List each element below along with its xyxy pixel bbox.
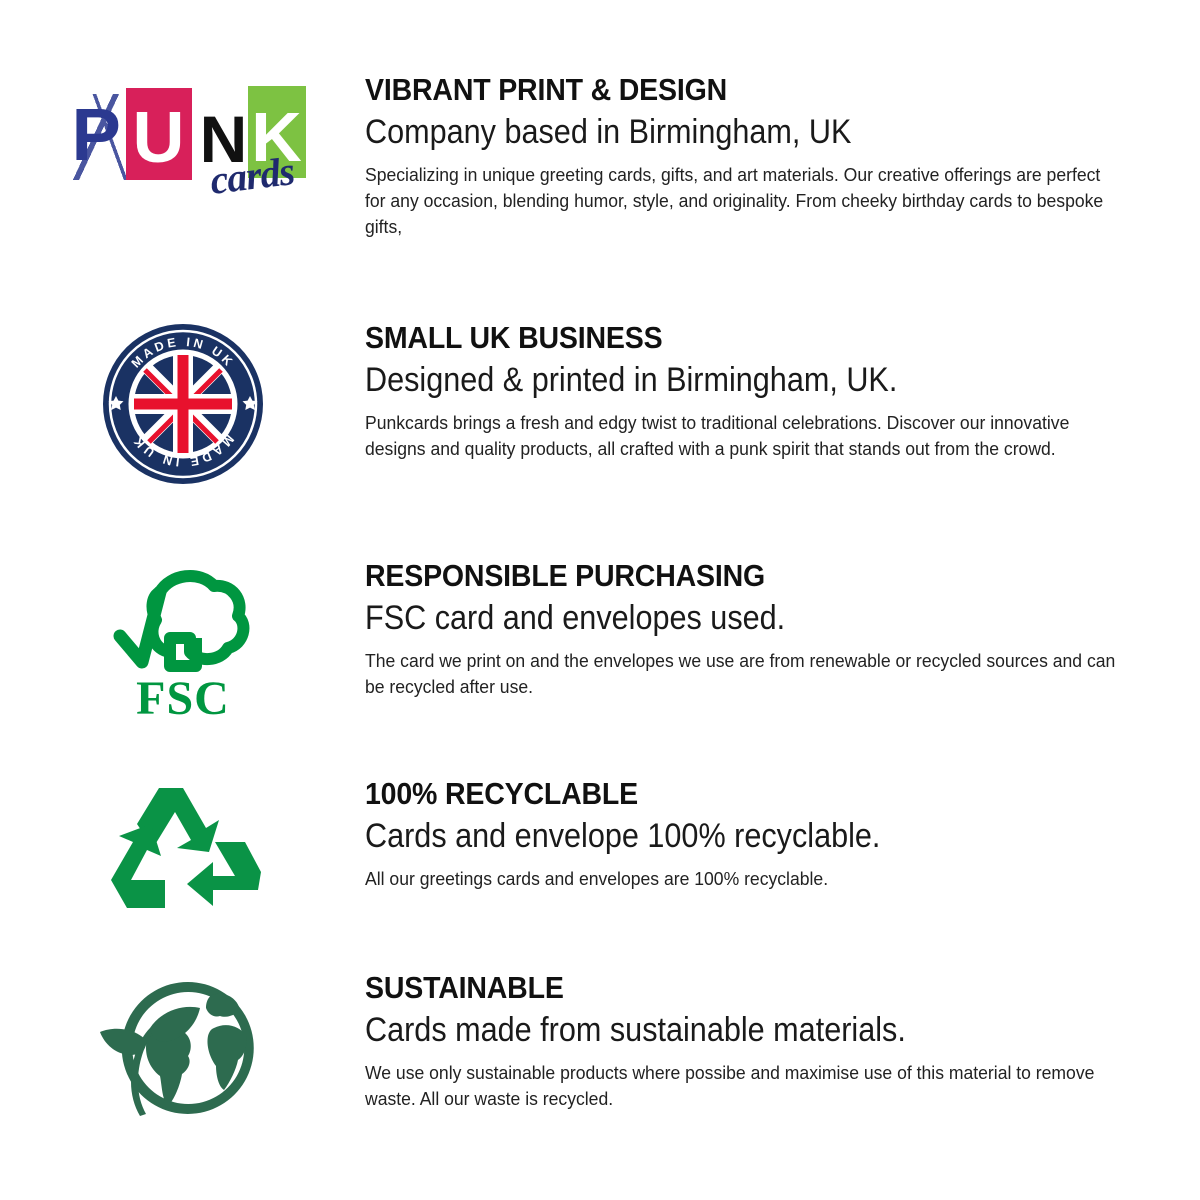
punk-logo-script-cards: cards: [207, 147, 296, 204]
feature-text-cell: 100% RECYCLABLE Cards and envelope 100% …: [365, 776, 1115, 892]
feature-row: MADE IN UK MADE IN UK SMALL UK BUSINESS …: [0, 320, 1200, 484]
feature-subtitle: Designed & printed in Birmingham, UK.: [365, 359, 1009, 401]
made-in-uk-badge-icon: MADE IN UK MADE IN UK: [103, 324, 263, 484]
feature-text-cell: SUSTAINABLE Cards made from sustainable …: [365, 970, 1115, 1112]
recycling-arrows-icon: [103, 780, 263, 920]
feature-icon-cell: [0, 776, 365, 920]
feature-row: SUSTAINABLE Cards made from sustainable …: [0, 970, 1200, 1124]
feature-body: Punkcards brings a fresh and edgy twist …: [365, 410, 1116, 462]
feature-title: SMALL UK BUSINESS: [365, 320, 1023, 356]
feature-title: SUSTAINABLE: [365, 970, 1023, 1006]
feature-subtitle: FSC card and envelopes used.: [365, 597, 1009, 639]
feature-text-cell: RESPONSIBLE PURCHASING FSC card and enve…: [365, 558, 1115, 700]
feature-body: The card we print on and the envelopes w…: [365, 648, 1116, 700]
feature-subtitle: Cards made from sustainable materials.: [365, 1009, 1009, 1051]
fsc-label: FSC: [136, 672, 230, 722]
feature-text-cell: VIBRANT PRINT & DESIGN Company based in …: [365, 72, 1115, 240]
feature-icon-cell: MADE IN UK MADE IN UK: [0, 320, 365, 484]
feature-icon-cell: [0, 970, 365, 1124]
feature-title: VIBRANT PRINT & DESIGN: [365, 72, 1023, 108]
punk-logo-letter-p: P: [72, 98, 119, 172]
feature-title: RESPONSIBLE PURCHASING: [365, 558, 1023, 594]
feature-subtitle: Company based in Birmingham, UK: [365, 111, 1009, 153]
feature-title: 100% RECYCLABLE: [365, 776, 1023, 812]
feature-icon-cell: FSC: [0, 558, 365, 722]
feature-row: P U N K cards VIBRANT PRINT & DESIGN Com…: [0, 72, 1200, 240]
globe-leaf-icon: [88, 974, 278, 1124]
fsc-tree-icon: FSC: [108, 562, 258, 722]
feature-body: We use only sustainable products where p…: [365, 1060, 1116, 1112]
feature-body: Specializing in unique greeting cards, g…: [365, 162, 1116, 240]
feature-subtitle: Cards and envelope 100% recyclable.: [365, 815, 1009, 857]
feature-row: FSC RESPONSIBLE PURCHASING FSC card and …: [0, 558, 1200, 722]
feature-row: 100% RECYCLABLE Cards and envelope 100% …: [0, 776, 1200, 920]
features-page: P U N K cards VIBRANT PRINT & DESIGN Com…: [0, 0, 1200, 1200]
feature-text-cell: SMALL UK BUSINESS Designed & printed in …: [365, 320, 1115, 462]
punkcards-logo: P U N K cards: [64, 76, 302, 191]
punk-logo-letter-u: U: [126, 102, 192, 174]
feature-icon-cell: P U N K cards: [0, 72, 365, 191]
feature-body: All our greetings cards and envelopes ar…: [365, 866, 1116, 892]
